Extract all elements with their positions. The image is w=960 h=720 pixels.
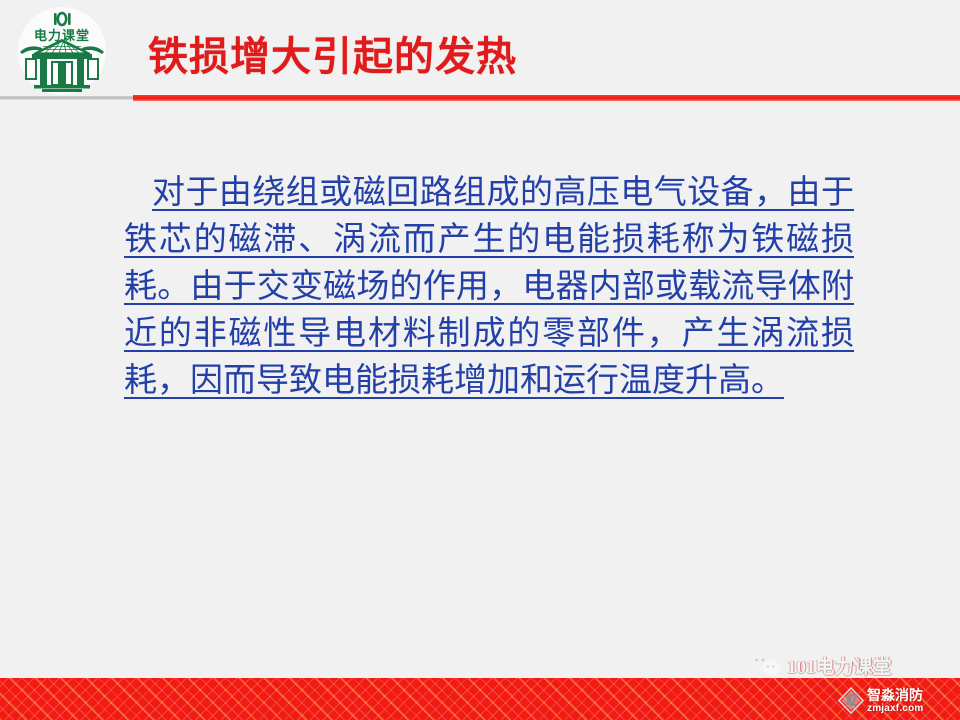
slide-header: 电力课堂	[0, 0, 960, 100]
watermark-url: zmjaxf.com	[867, 704, 923, 714]
zmjaxf-diamond-icon	[838, 687, 864, 714]
header-divider-red	[133, 95, 960, 101]
watermark-title: 智淼消防	[867, 688, 923, 702]
wechat-account-label: 101电力课堂	[787, 652, 892, 679]
content-paragraph: 对于由绕组或磁回路组成的高压电气设备，由于铁芯的磁滞、涡流而产生的电能损耗称为铁…	[124, 170, 854, 405]
watermark-text: 智淼消防 zmjaxf.com	[867, 688, 923, 714]
page-title: 铁损增大引起的发热	[148, 32, 517, 82]
slide-root: 电力课堂	[0, 0, 960, 720]
site-watermark: 智淼消防 zmjaxf.com	[838, 684, 956, 717]
header-divider-grey	[0, 96, 133, 100]
wechat-brand: 101电力课堂	[748, 648, 908, 682]
footer-red-band	[0, 678, 960, 720]
course-logo-icon: 电力课堂	[12, 4, 112, 98]
wechat-icon	[748, 652, 782, 678]
